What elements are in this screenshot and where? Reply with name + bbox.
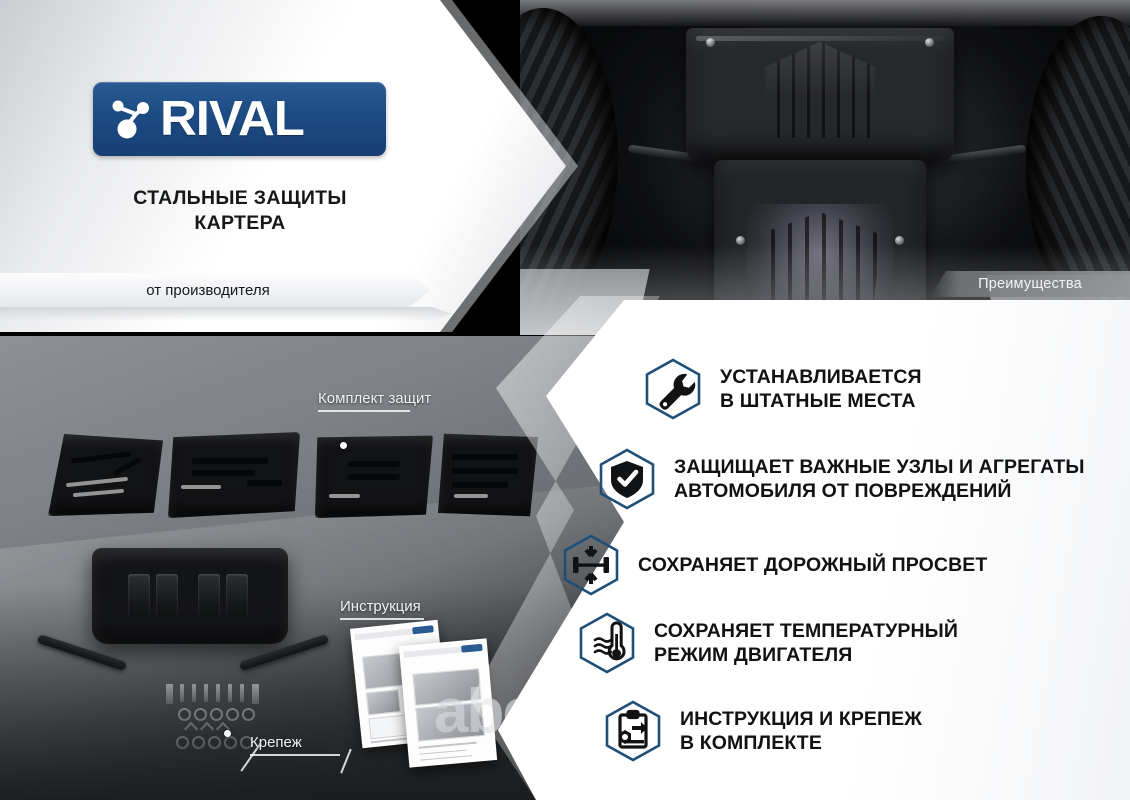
hero-subtitle-strip: от производителя xyxy=(0,273,430,307)
benefit-text-3: СОХРАНЯЕТ ДОРОЖНЫЙ ПРОСВЕТ xyxy=(638,553,987,577)
photo-top-bar xyxy=(520,0,1130,26)
skid-plate-3 xyxy=(315,434,433,518)
benefit-text-5: ИНСТРУКЦИЯ И КРЕПЕЖ В КОМПЛЕКТЕ xyxy=(680,707,922,755)
callout-dot-1 xyxy=(340,442,347,449)
benefit-item-1: УСТАНАВЛИВАЕТСЯ В ШТАТНЫЕ МЕСТА xyxy=(644,358,922,420)
benefit-item-3: СОХРАНЯЕТ ДОРОЖНЫЙ ПРОСВЕТ xyxy=(562,534,987,596)
callout-protection-kit: Комплект защит xyxy=(318,390,431,407)
skid-plate-1 xyxy=(48,434,163,516)
advantages-tag: Преимущества xyxy=(930,271,1130,297)
benefit-text-1: УСТАНАВЛИВАЕТСЯ В ШТАТНЫЕ МЕСТА xyxy=(720,365,922,413)
page-title: СТАЛЬНЫЕ ЗАЩИТЫ КАРТЕРА xyxy=(60,186,420,236)
benefit-item-4: СОХРАНЯЕТ ТЕМПЕРАТУРНЫЙ РЕЖИМ ДВИГАТЕЛЯ xyxy=(578,612,958,674)
clipboard-bolt-icon xyxy=(604,700,662,762)
benefit-item-5: ИНСТРУКЦИЯ И КРЕПЕЖ В КОМПЛЕКТЕ xyxy=(604,700,922,762)
upper-skid-plate xyxy=(686,28,954,163)
benefit-text-4: СОХРАНЯЕТ ТЕМПЕРАТУРНЫЙ РЕЖИМ ДВИГАТЕЛЯ xyxy=(654,619,958,667)
rival-logo: RIVAL xyxy=(93,82,386,156)
molecule-icon xyxy=(109,96,153,142)
skid-plate-2 xyxy=(168,432,300,518)
callout-underline-1 xyxy=(318,410,410,412)
callout-fasteners: Крепеж xyxy=(250,734,302,751)
callout-underline-2 xyxy=(340,618,424,620)
skid-plate-4 xyxy=(438,432,538,518)
callout-dot-3 xyxy=(224,730,231,737)
thermometer-icon xyxy=(578,612,636,674)
wrench-icon xyxy=(644,358,702,420)
clearance-icon xyxy=(562,534,620,596)
callout-underline-3 xyxy=(250,754,340,756)
benefit-item-2: ЗАЩИЩАЕТ ВАЖНЫЕ УЗЛЫ И АГРЕГАТЫ АВТОМОБИ… xyxy=(598,448,1085,510)
hero-subtitle: от производителя xyxy=(146,282,269,299)
callout-instruction: Инструкция xyxy=(340,598,421,615)
benefit-text-2: ЗАЩИЩАЕТ ВАЖНЫЕ УЗЛЫ И АГРЕГАТЫ АВТОМОБИ… xyxy=(674,455,1085,503)
advantages-tag-label: Преимущества xyxy=(978,276,1082,292)
promo-banner: Преимущества RIVAL СТАЛЬНЫЕ ЗАЩИТЫ КАРТЕ… xyxy=(0,0,1130,800)
rival-logo-text: RIVAL xyxy=(160,95,304,144)
shield-check-icon xyxy=(598,448,656,510)
hero-strip-shadow xyxy=(0,307,452,321)
